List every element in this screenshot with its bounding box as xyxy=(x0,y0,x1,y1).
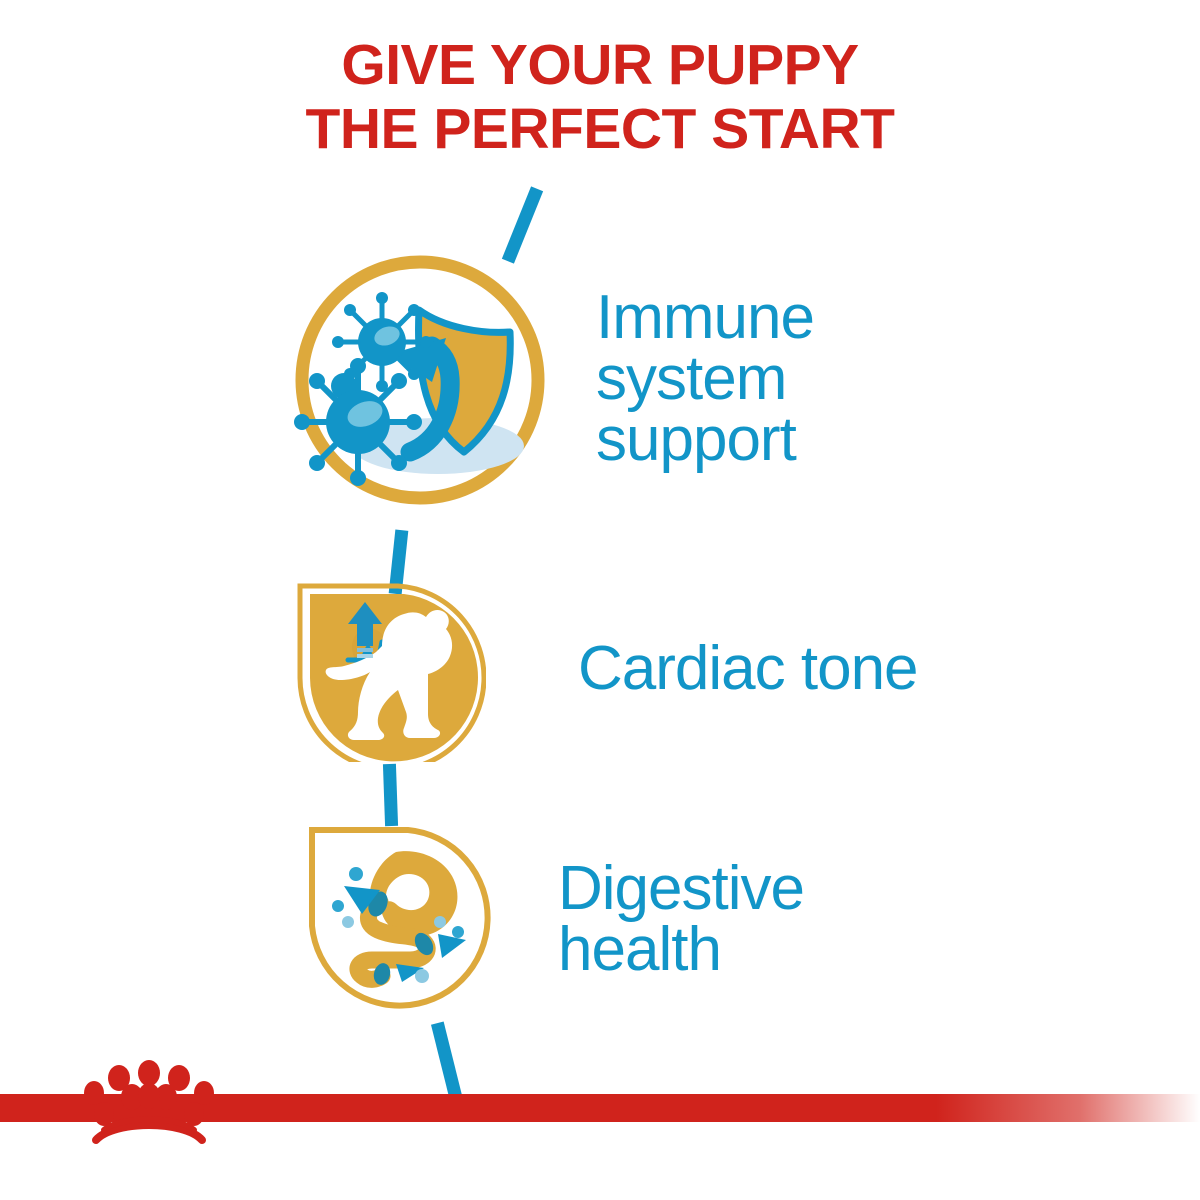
benefit-label-immune: Immune system support xyxy=(596,288,814,470)
connector-dash-3 xyxy=(383,764,398,826)
digestive-stomach-icon xyxy=(300,818,496,1019)
benefit-label-cardiac: Cardiac tone xyxy=(578,639,918,700)
benefit-row-digestive[interactable]: Digestive health xyxy=(300,818,804,1019)
benefit-label-digestive: Digestive health xyxy=(558,859,804,981)
benefit-row-cardiac[interactable]: Cardiac tone xyxy=(286,572,918,767)
benefit-row-immune[interactable]: Immune system support xyxy=(286,246,814,519)
connector-dash-4 xyxy=(431,1022,462,1099)
immune-shield-virus-icon xyxy=(286,246,554,519)
royal-canin-crown-logo xyxy=(74,1056,224,1144)
page-title: Give your puppy the perfect start xyxy=(0,34,1200,162)
poster-canvas: Give your puppy the perfect start xyxy=(0,0,1200,1200)
cardiac-puppy-heart-icon xyxy=(286,572,486,767)
